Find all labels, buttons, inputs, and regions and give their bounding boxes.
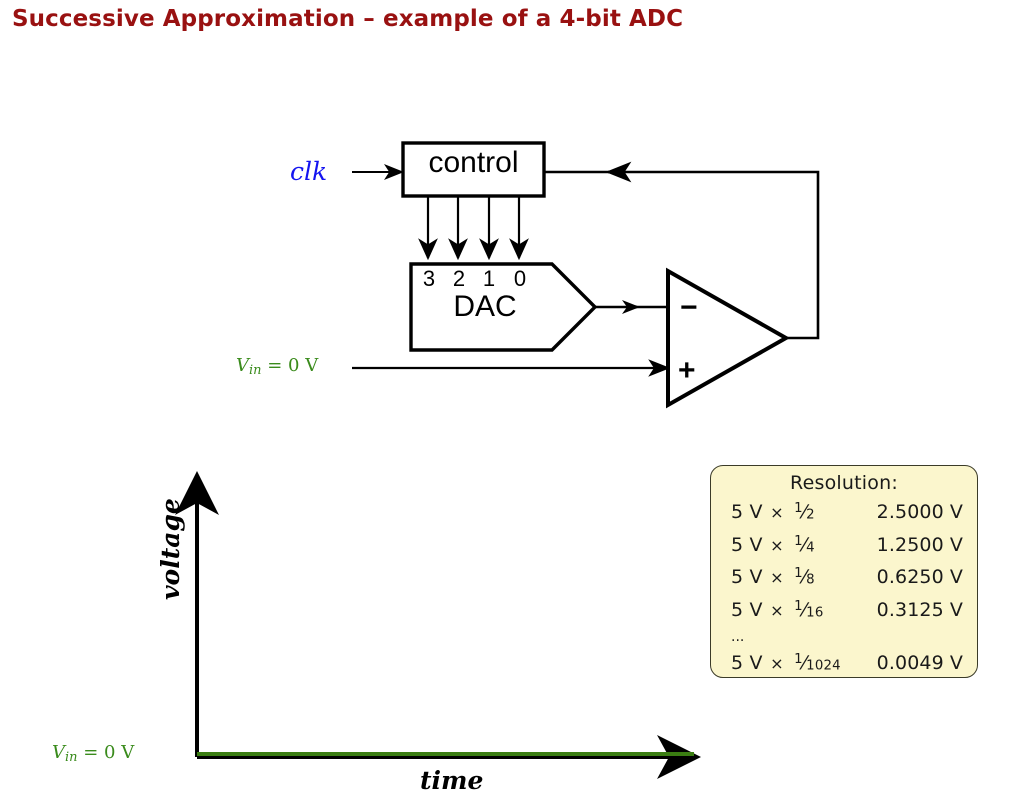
resolution-row-expression: 5 V × 1⁄4 bbox=[731, 529, 816, 562]
fraction-numerator: 1 bbox=[794, 566, 803, 581]
resolution-row-base: 5 V bbox=[731, 501, 763, 523]
dac-bit-label-1: 1 bbox=[478, 266, 500, 292]
control-block-label: control bbox=[403, 146, 544, 180]
resolution-row: 5 V × 1⁄10240.0049 V bbox=[731, 647, 963, 680]
vin-circuit-label: Vin = 0 V bbox=[236, 355, 318, 378]
resolution-row-expression: 5 V × 1⁄1024 bbox=[731, 647, 842, 680]
resolution-row-expression: 5 V × 1⁄8 bbox=[731, 561, 816, 594]
comparator-minus-icon: − bbox=[680, 291, 698, 324]
resolution-row-expression: 5 V × 1⁄2 bbox=[731, 496, 816, 529]
resolution-row-base: 5 V bbox=[731, 534, 763, 556]
comparator-plus-icon: + bbox=[678, 354, 696, 387]
vin-axis-value: = 0 V bbox=[78, 742, 135, 763]
fraction-numerator: 1 bbox=[794, 652, 803, 667]
vin-circuit-symbol: V bbox=[236, 355, 249, 376]
dac-bit-label-0: 0 bbox=[509, 266, 531, 292]
resolution-row-fraction: 1⁄2 bbox=[793, 496, 816, 529]
fraction-denominator: 4 bbox=[806, 540, 815, 555]
fraction-denominator: 16 bbox=[806, 606, 823, 621]
dac-block-label: DAC bbox=[410, 290, 560, 324]
resolution-row-fraction: 1⁄16 bbox=[793, 594, 824, 627]
resolution-title: Resolution: bbox=[711, 472, 977, 494]
resolution-rows: 5 V × 1⁄22.5000 V5 V × 1⁄41.2500 V5 V × … bbox=[711, 496, 977, 679]
resolution-row-ellipsis: ... bbox=[731, 627, 963, 647]
dac-bit-label-2: 2 bbox=[448, 266, 470, 292]
resolution-row-value: 0.0049 V bbox=[877, 650, 963, 676]
resolution-row-base: 5 V bbox=[731, 566, 763, 588]
resolution-row-value: 1.2500 V bbox=[877, 532, 963, 558]
vin-axis-symbol: V bbox=[52, 742, 65, 763]
fraction-denominator: 1024 bbox=[806, 658, 841, 673]
vin-circuit-subscript: in bbox=[249, 363, 262, 378]
vin-axis-subscript: in bbox=[65, 750, 78, 765]
y-axis-label: voltage bbox=[156, 498, 185, 600]
resolution-row: 5 V × 1⁄160.3125 V bbox=[731, 594, 963, 627]
fraction-numerator: 1 bbox=[794, 599, 803, 614]
multiply-icon: × bbox=[763, 601, 791, 620]
resolution-row-fraction: 1⁄1024 bbox=[793, 647, 842, 680]
x-axis-label: time bbox=[420, 766, 483, 795]
resolution-box: Resolution: 5 V × 1⁄22.5000 V5 V × 1⁄41.… bbox=[710, 465, 978, 678]
multiply-icon: × bbox=[763, 536, 791, 555]
multiply-icon: × bbox=[763, 654, 791, 673]
fraction-denominator: 2 bbox=[806, 508, 815, 523]
resolution-row-value: 0.3125 V bbox=[877, 597, 963, 623]
circuit-diagram: − + bbox=[0, 0, 1024, 809]
fraction-numerator: 1 bbox=[794, 534, 803, 549]
slide-root: Successive Approximation – example of a … bbox=[0, 0, 1024, 809]
multiply-icon: × bbox=[763, 568, 791, 587]
resolution-row-fraction: 1⁄8 bbox=[793, 561, 816, 594]
clk-label: clk bbox=[290, 157, 327, 186]
fraction-numerator: 1 bbox=[794, 501, 803, 516]
resolution-row-base: 5 V bbox=[731, 599, 763, 621]
vin-circuit-value: = 0 V bbox=[262, 355, 319, 376]
resolution-row: 5 V × 1⁄80.6250 V bbox=[731, 561, 963, 594]
resolution-row-base: 5 V bbox=[731, 652, 763, 674]
dac-bit-label-3: 3 bbox=[418, 266, 440, 292]
resolution-row-expression: 5 V × 1⁄16 bbox=[731, 594, 825, 627]
resolution-row-value: 2.5000 V bbox=[877, 499, 963, 525]
y-axis-label-wrap: voltage bbox=[160, 0, 190, 809]
resolution-row: 5 V × 1⁄41.2500 V bbox=[731, 529, 963, 562]
fraction-denominator: 8 bbox=[806, 573, 815, 588]
resolution-row: 5 V × 1⁄22.5000 V bbox=[731, 496, 963, 529]
resolution-row-fraction: 1⁄4 bbox=[793, 529, 816, 562]
multiply-icon: × bbox=[763, 503, 791, 522]
vin-axis-label: Vin = 0 V bbox=[52, 742, 134, 765]
resolution-row-value: 0.6250 V bbox=[877, 564, 963, 590]
